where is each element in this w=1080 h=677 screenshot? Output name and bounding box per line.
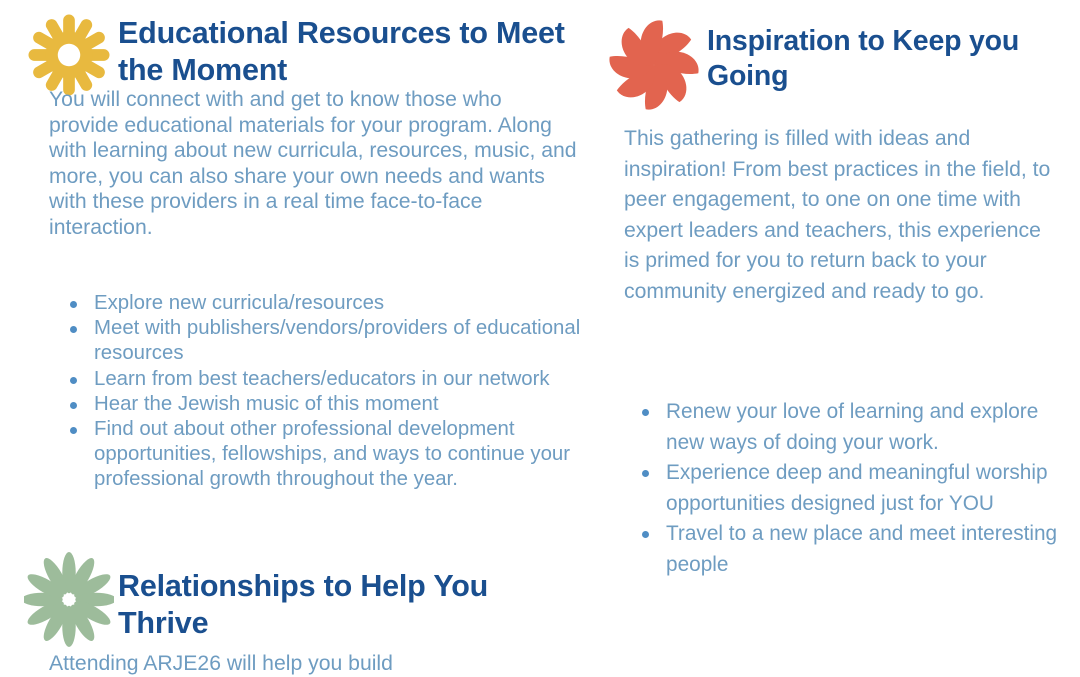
list-item: Hear the Jewish music of this moment	[64, 392, 584, 417]
list-item: Explore new curricula/resources	[64, 291, 584, 316]
section-title-educational-resources: Educational Resources to Meet the Moment	[118, 8, 584, 89]
right-column: Inspiration to Keep you Going This gathe…	[600, 0, 1080, 675]
flyer-page: Educational Resources to Meet the Moment…	[0, 0, 1080, 675]
daisy-flower-icon	[24, 552, 114, 647]
list-item: Renew your love of learning and explore …	[636, 397, 1066, 458]
list-item: Experience deep and meaningful worship o…	[636, 458, 1066, 519]
list-item: Learn from best teachers/educators in ou…	[64, 367, 584, 392]
section-title-inspiration: Inspiration to Keep you Going	[707, 18, 1075, 94]
left-column: Educational Resources to Meet the Moment…	[0, 0, 600, 675]
inspiration-bullet-list: Renew your love of learning and explore …	[636, 397, 1066, 580]
section-inspiration-header: Inspiration to Keep you Going	[605, 18, 1075, 110]
section-title-relationships: Relationships to Help You Thrive	[118, 552, 544, 642]
list-item: Travel to a new place and meet interesti…	[636, 519, 1066, 580]
list-item: Find out about other professional develo…	[64, 417, 584, 493]
educational-resources-bullet-list: Explore new curricula/resources Meet wit…	[64, 291, 584, 493]
pinwheel-swirl-icon	[605, 20, 703, 110]
inspiration-paragraph: This gathering is filled with ideas and …	[624, 124, 1054, 308]
relationships-paragraph: Attending ARJE26 will help you build	[49, 651, 577, 677]
list-item: Meet with publishers/vendors/providers o…	[64, 316, 584, 366]
educational-resources-paragraph: You will connect with and get to know th…	[49, 87, 577, 241]
section-relationships-header: Relationships to Help You Thrive	[24, 552, 544, 647]
